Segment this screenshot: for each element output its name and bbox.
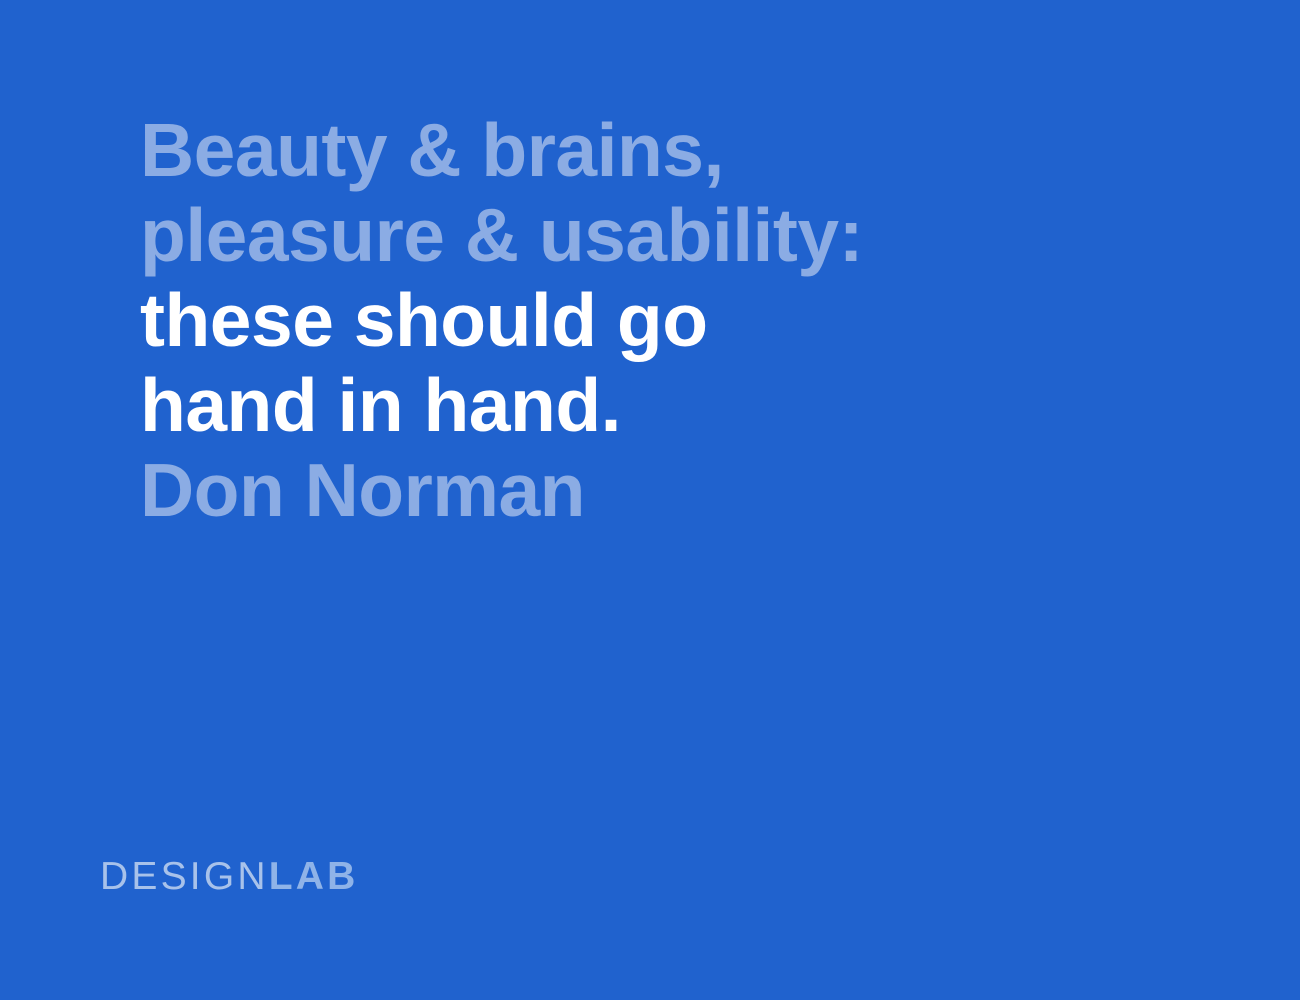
quote-attribution: Don Norman <box>140 448 1240 533</box>
quote-slide: Beauty & brains, pleasure & usability: t… <box>0 0 1300 1000</box>
quote-line-4: hand in hand. <box>140 363 1240 448</box>
quote-line-2: pleasure & usability: <box>140 193 1240 278</box>
quote-block: Beauty & brains, pleasure & usability: t… <box>140 108 1240 533</box>
designlab-logo: DESIGN LAB <box>100 856 359 898</box>
quote-line-1: Beauty & brains, <box>140 108 1240 193</box>
logo-text-design: DESIGN <box>100 856 269 898</box>
quote-line-3: these should go <box>140 278 1240 363</box>
logo-text-lab: LAB <box>269 856 359 898</box>
